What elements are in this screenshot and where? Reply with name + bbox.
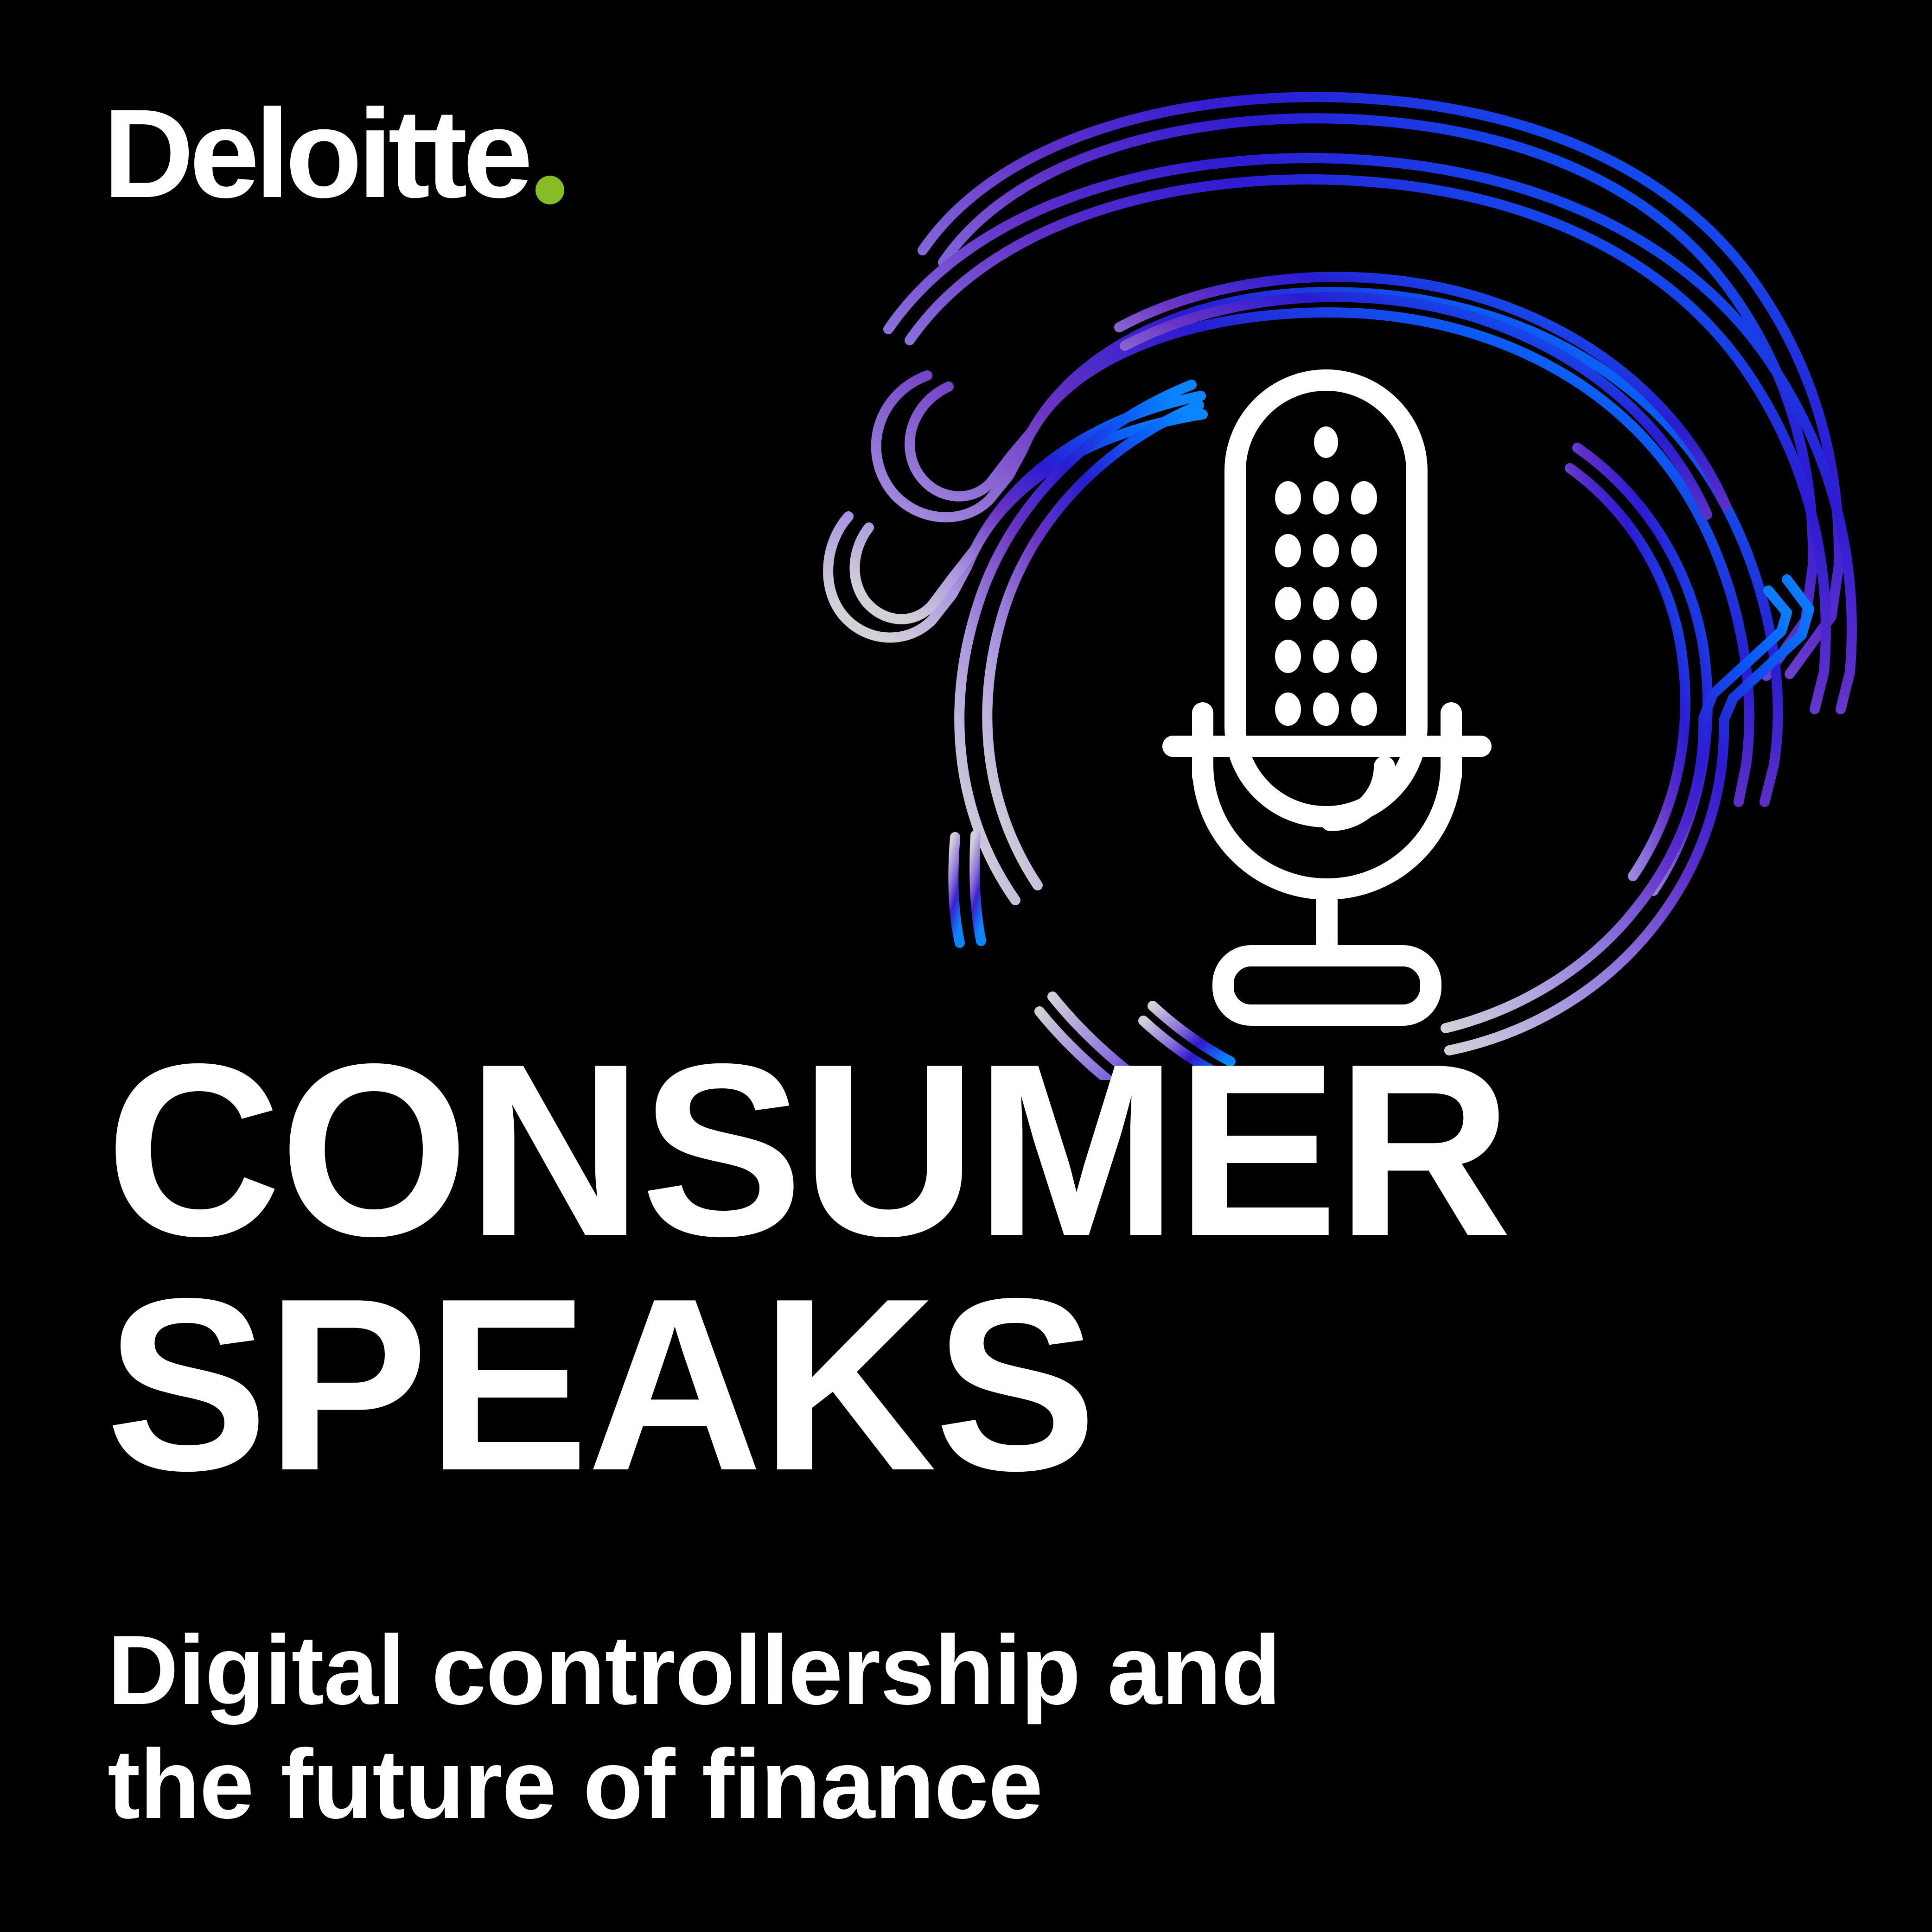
podcast-cover-art: Deloitte [0,0,1932,1932]
subtitle-line-2: the future of finance [108,1727,1498,1841]
sound-wave-arc-group [828,97,1852,1080]
microphone-icon [1173,380,1481,1015]
sound-wave-dash-vertical [953,835,981,943]
page-subtitle: Digital controllership and the future of… [108,1613,1498,1841]
subtitle-line-1: Digital controllership and [108,1613,1498,1727]
sound-wave-arc-left-descend [959,385,1199,900]
microphone-artwork-svg [784,60,1868,1080]
deloitte-green-dot-icon [536,176,564,204]
deloitte-logo: Deloitte [103,100,564,208]
deloitte-wordmark: Deloitte [103,100,528,208]
microphone-base [1223,956,1431,1015]
podcast-microphone-artwork [784,60,1868,1080]
sound-wave-arc-right-tail [1446,579,1809,1050]
title-line-2: SPEAKS [106,1267,1712,1502]
page-title: CONSUMER SPEAKS [106,1033,1728,1502]
title-line-1: CONSUMER [106,1033,1712,1267]
microphone-grille-dots [1275,426,1377,726]
